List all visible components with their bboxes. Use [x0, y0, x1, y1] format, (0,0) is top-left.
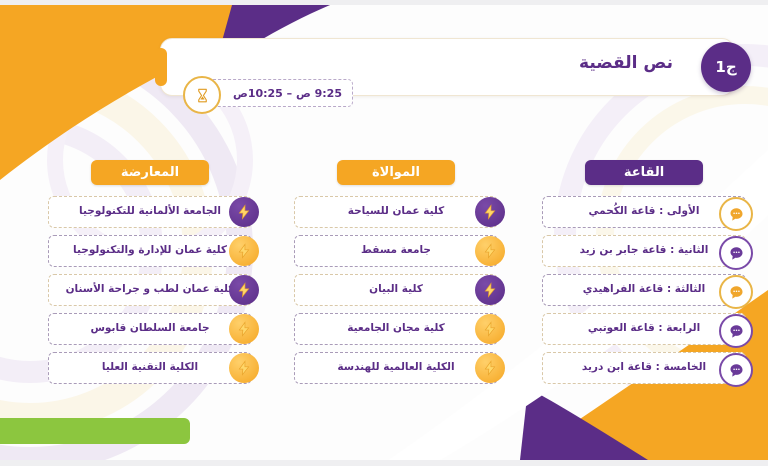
list-item-label: الثالثة : قاعة الفراهيدي: [543, 284, 745, 296]
footer-green-bar: [0, 418, 190, 444]
list-item[interactable]: كلية عمان للسياحة: [294, 196, 498, 228]
list-item-label: كلية البيان: [295, 284, 497, 296]
column-hall: القاعة الأولى : قاعة الكُحميالثانية : قا…: [542, 160, 746, 384]
list-item-label: جامعة مسقط: [295, 245, 497, 257]
list-item-label: الثانية : قاعة جابر بن زيد: [543, 245, 745, 257]
list-item-label: كلية عمان للسياحة: [295, 206, 497, 218]
slide-canvas: نص القضية ج1 9:25 ص – 10:25ص المعارضة ال…: [0, 0, 768, 466]
bottom-edge-strip: [0, 460, 768, 466]
list-item[interactable]: كلية مجان الجامعية: [294, 313, 498, 345]
list-item[interactable]: الجامعة الألمانية للتكنولوجيا: [48, 196, 252, 228]
list-item[interactable]: كلية عمان للإدارة والتكنولوجيا: [48, 235, 252, 267]
list-item[interactable]: الثانية : قاعة جابر بن زيد: [542, 235, 746, 267]
top-edge-strip: [0, 0, 768, 5]
row-list-hall: الأولى : قاعة الكُحميالثانية : قاعة جابر…: [542, 196, 746, 384]
session-time-label: 9:25 ص – 10:25ص: [233, 87, 342, 100]
column-header-hall: القاعة: [585, 160, 703, 185]
lightning-icon: [475, 275, 505, 305]
list-item[interactable]: الكلية التقنية العليا: [48, 352, 252, 384]
list-item-label: جامعة السلطان قابوس: [49, 323, 251, 335]
speech-bubble-icon: [719, 197, 753, 231]
header-accent-tab-left: [155, 48, 167, 86]
lightning-icon: [475, 236, 505, 266]
list-item[interactable]: كلية البيان: [294, 274, 498, 306]
column-opposition: المعارضة الجامعة الألمانية للتكنولوجياكل…: [48, 160, 252, 384]
page-title: نص القضية: [579, 53, 673, 73]
list-item[interactable]: الخامسة : قاعة ابن دريد: [542, 352, 746, 384]
list-item[interactable]: كلية عمان لطب و جراحة الأسنان: [48, 274, 252, 306]
lightning-icon: [229, 236, 259, 266]
speech-bubble-icon: [719, 236, 753, 270]
column-government: الموالاة كلية عمان للسياحةجامعة مسقطكلية…: [294, 160, 498, 384]
session-badge: ج1: [701, 42, 751, 92]
lightning-icon: [475, 353, 505, 383]
list-item[interactable]: الثالثة : قاعة الفراهيدي: [542, 274, 746, 306]
list-item-label: الأولى : قاعة الكُحمي: [543, 206, 745, 218]
lightning-icon: [229, 314, 259, 344]
list-item-label: الخامسة : قاعة ابن دريد: [543, 362, 745, 374]
lightning-icon: [229, 197, 259, 227]
row-list-opposition: الجامعة الألمانية للتكنولوجياكلية عمان ل…: [48, 196, 252, 384]
speech-bubble-icon: [719, 275, 753, 309]
list-item-label: كلية عمان لطب و جراحة الأسنان: [49, 284, 251, 296]
hourglass-icon: [183, 76, 221, 114]
column-header-government: الموالاة: [337, 160, 455, 185]
column-header-opposition: المعارضة: [91, 160, 209, 185]
list-item[interactable]: الكلية العالمية للهندسة: [294, 352, 498, 384]
list-item-label: الرابعة : قاعة العوتبي: [543, 323, 745, 335]
lightning-icon: [475, 197, 505, 227]
corner-shape-bottom-right-purple: [520, 388, 648, 460]
list-item-label: كلية عمان للإدارة والتكنولوجيا: [49, 245, 251, 257]
list-item-label: الجامعة الألمانية للتكنولوجيا: [49, 206, 251, 218]
row-list-government: كلية عمان للسياحةجامعة مسقطكلية البيانكل…: [294, 196, 498, 384]
speech-bubble-icon: [719, 314, 753, 348]
lightning-icon: [475, 314, 505, 344]
session-time-chip: 9:25 ص – 10:25ص: [198, 79, 353, 107]
lightning-icon: [229, 275, 259, 305]
list-item[interactable]: الرابعة : قاعة العوتبي: [542, 313, 746, 345]
list-item-label: الكلية التقنية العليا: [49, 362, 251, 374]
list-item[interactable]: جامعة مسقط: [294, 235, 498, 267]
list-item-label: الكلية العالمية للهندسة: [295, 362, 497, 374]
list-item-label: كلية مجان الجامعية: [295, 323, 497, 335]
speech-bubble-icon: [719, 353, 753, 387]
lightning-icon: [229, 353, 259, 383]
list-item[interactable]: الأولى : قاعة الكُحمي: [542, 196, 746, 228]
list-item[interactable]: جامعة السلطان قابوس: [48, 313, 252, 345]
